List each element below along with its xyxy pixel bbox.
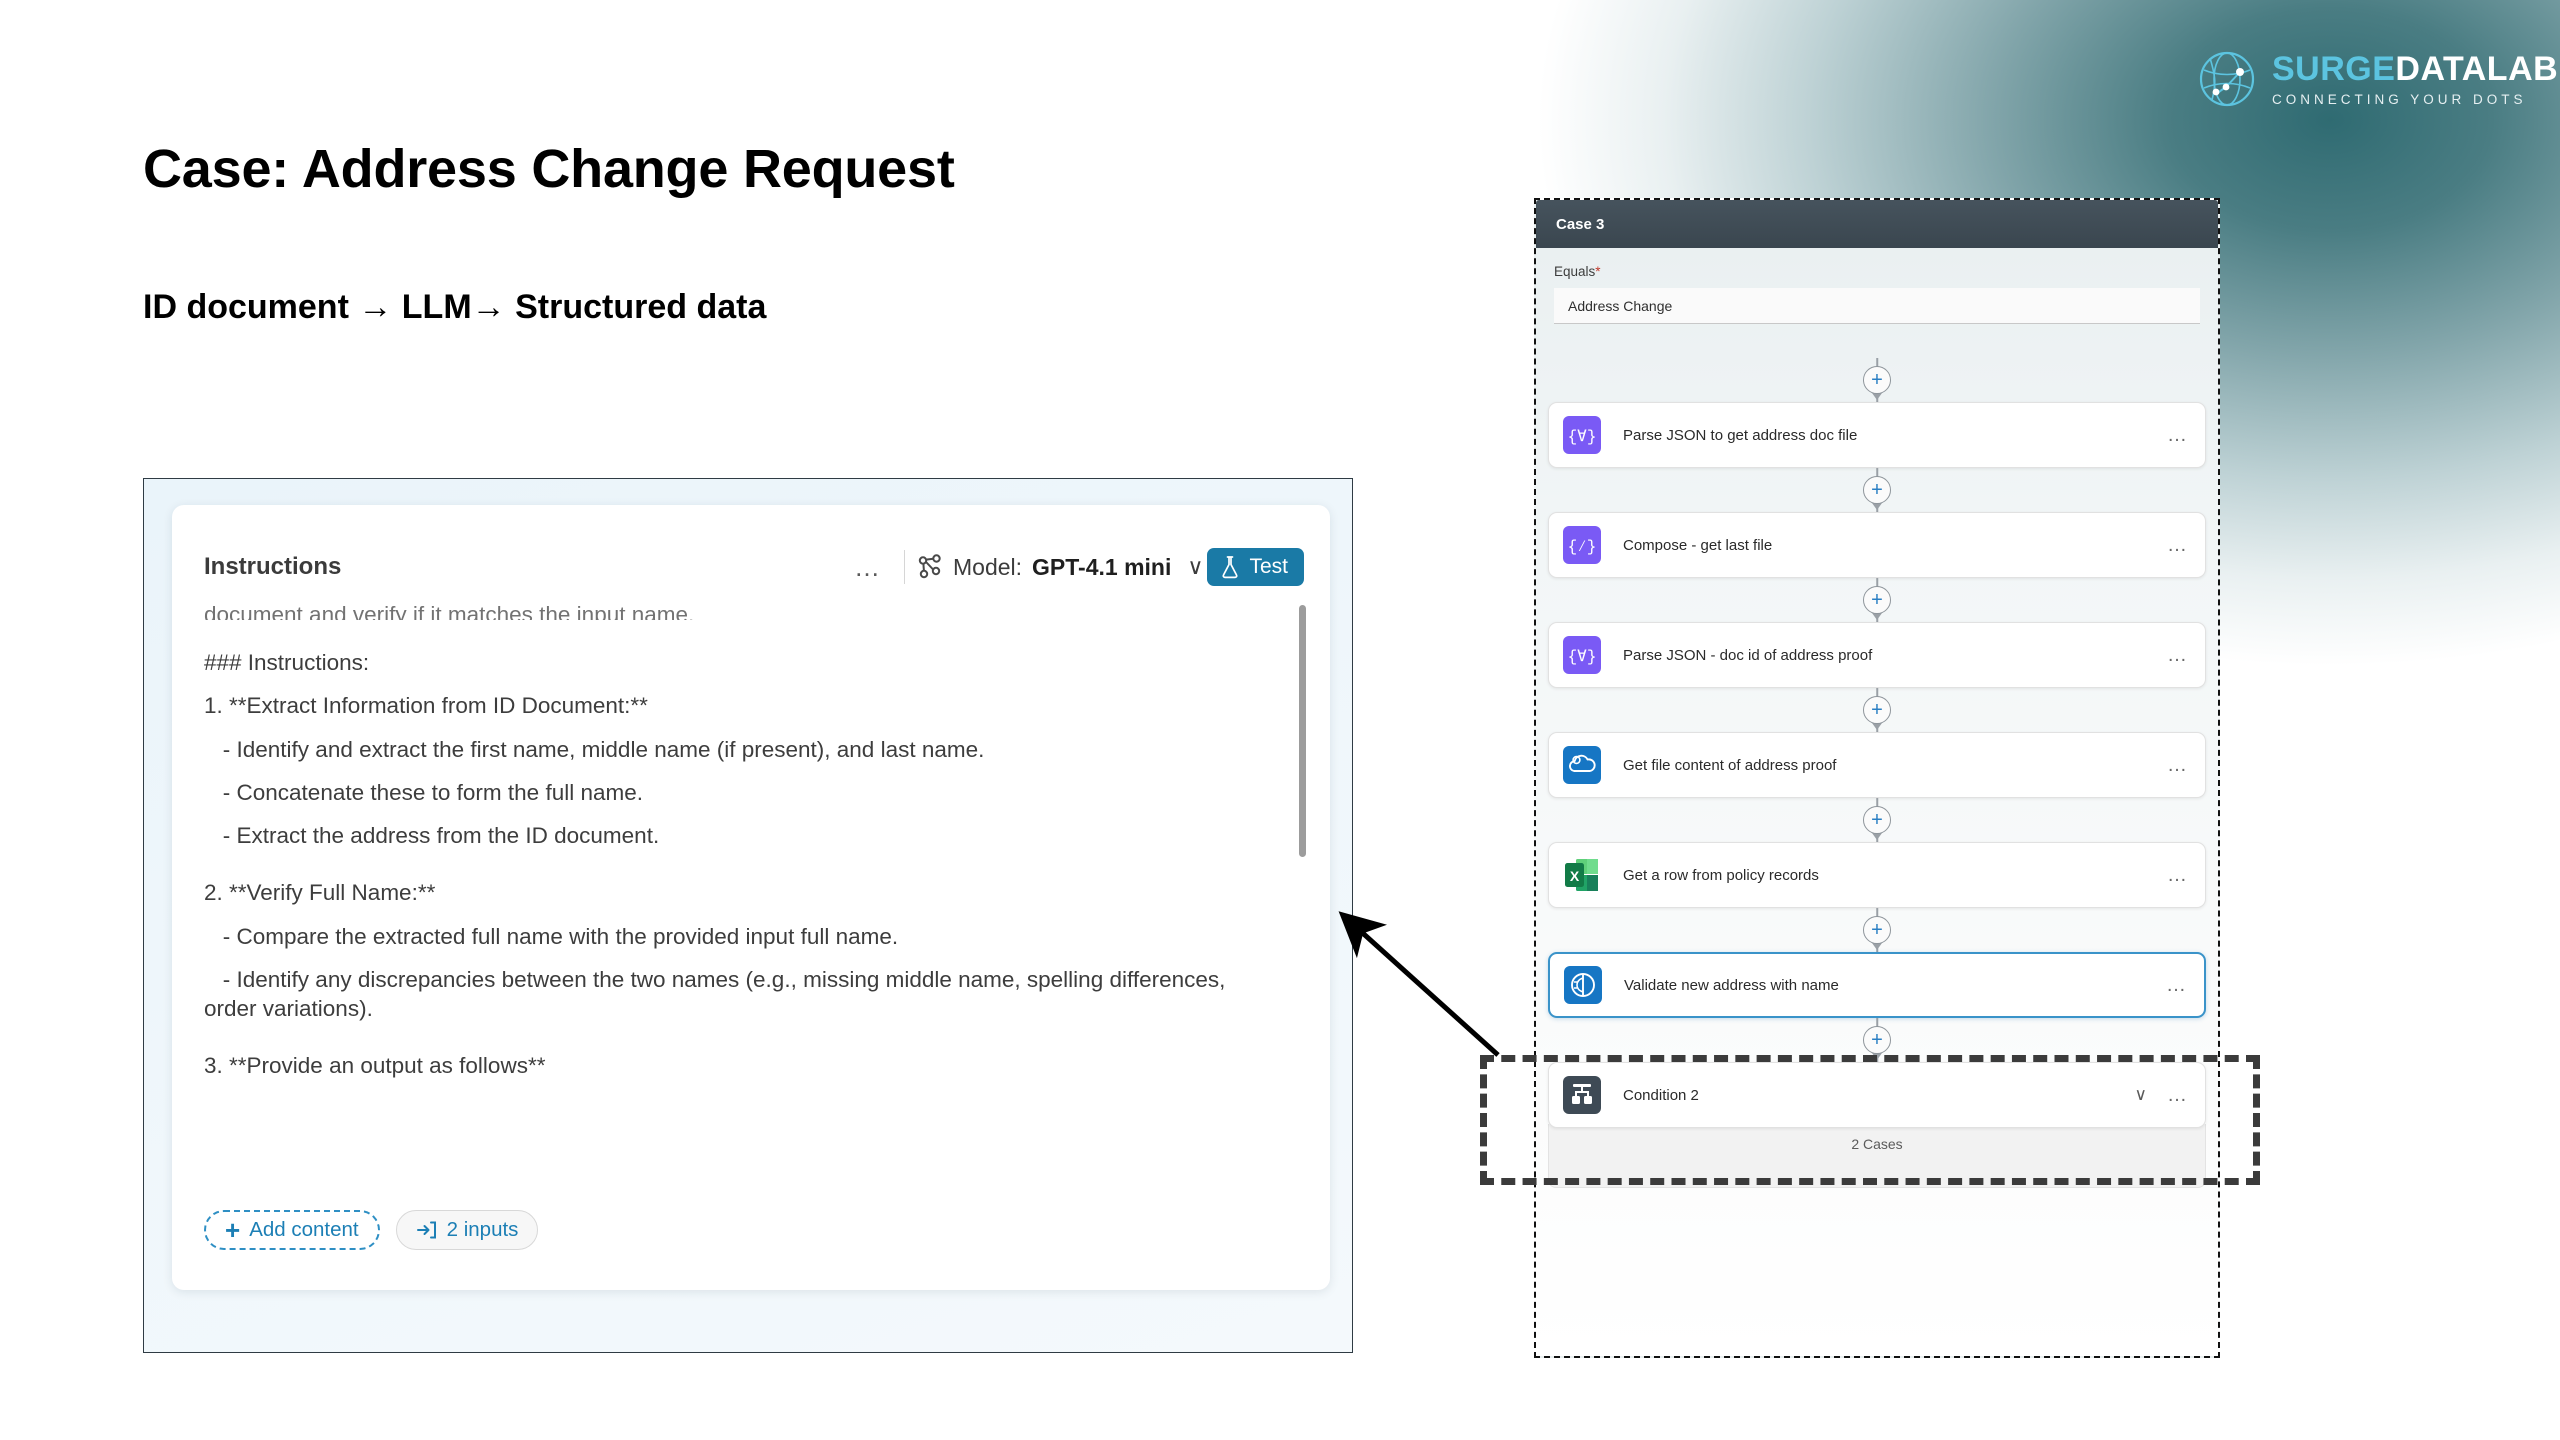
inputs-label: 2 inputs [447, 1218, 519, 1242]
flow-step-menu-icon[interactable]: … [2167, 1085, 2189, 1105]
connector-arrowhead [1872, 833, 1882, 840]
connector-arrowhead [1872, 613, 1882, 620]
model-value: GPT-4.1 mini [1032, 554, 1171, 581]
model-label: Model: [953, 554, 1022, 581]
plus-icon: + [225, 1217, 240, 1243]
flow-step-menu-icon[interactable]: … [2167, 755, 2189, 775]
flow-panel: Case 3 Equals* Address Change + {∀} Pars… [1534, 198, 2220, 1358]
flow-panel-header: Case 3 [1536, 200, 2218, 248]
connector-arrowhead [1872, 723, 1882, 730]
flow-steps-list: + {∀} Parse JSON to get address doc file… [1536, 358, 2218, 1356]
flow-step-label: Parse JSON - doc id of address proof [1623, 647, 2167, 664]
model-selector[interactable]: Model: GPT-4.1 mini ∨ [917, 554, 1207, 581]
flow-step-compose-get-last-file[interactable]: {∕} Compose - get last file … [1548, 512, 2206, 578]
cases-count-label: 2 Cases [1851, 1136, 1902, 1152]
flow-step-menu-icon[interactable]: … [2167, 865, 2189, 885]
equals-label: Equals* [1554, 264, 2200, 279]
flow-case-title: Case 3 [1556, 216, 1604, 233]
add-step-connector[interactable]: + [1536, 358, 2218, 402]
flow-step-label: Validate new address with name [1624, 977, 2166, 994]
overflow-menu-icon[interactable]: … [836, 554, 900, 580]
chevron-down-icon[interactable]: ∨ [1187, 554, 1203, 580]
add-step-button[interactable]: + [1863, 806, 1891, 834]
instructions-actions: + Add content 2 inputs [204, 1210, 538, 1250]
page-subtitle: ID document → LLM→ Structured data [143, 283, 1043, 331]
connector-arrowhead [1872, 503, 1882, 510]
equals-input[interactable]: Address Change [1554, 288, 2200, 324]
flow-step-label: Parse JSON to get address doc file [1623, 427, 2167, 444]
header-divider [904, 550, 905, 584]
add-step-button[interactable]: + [1863, 916, 1891, 944]
flow-step-parse-json-doc-id[interactable]: {∀} Parse JSON - doc id of address proof… [1548, 622, 2206, 688]
add-step-button[interactable]: + [1863, 1026, 1891, 1054]
flow-step-label: Condition 2 [1623, 1087, 2135, 1104]
condition-switch-icon [1563, 1076, 1601, 1114]
excel-icon: X [1563, 856, 1601, 894]
equals-field-group: Equals* Address Change [1536, 248, 2218, 338]
instructions-title: Instructions [204, 553, 836, 581]
flow-step-menu-icon[interactable]: … [2167, 535, 2189, 555]
instructions-line: ### Instructions: [204, 648, 1280, 677]
flow-step-validate-new-address[interactable]: Validate new address with name … [1548, 952, 2206, 1018]
flow-step-label: Get a row from policy records [1623, 867, 2167, 884]
test-button-label: Test [1249, 555, 1288, 579]
model-graph-icon [917, 554, 943, 580]
flow-step-parse-json-address-doc[interactable]: {∀} Parse JSON to get address doc file … [1548, 402, 2206, 468]
clipped-text-line: document and verify if it matches the in… [204, 603, 1280, 620]
svg-text:{∕}: {∕} [1568, 538, 1597, 556]
flow-step-get-row-policy-records[interactable]: X Get a row from policy records … [1548, 842, 2206, 908]
json-braces-icon: {∀} [1563, 636, 1601, 674]
instructions-line: 3. **Provide an output as follows** [204, 1051, 1280, 1080]
add-step-connector[interactable]: + [1536, 468, 2218, 512]
condition-cases-footer: 2 Cases [1548, 1124, 2206, 1188]
add-step-button[interactable]: + [1863, 366, 1891, 394]
compose-braces-icon: {∕} [1563, 526, 1601, 564]
instructions-card-header: Instructions … Model: GPT-4.1 min [172, 537, 1330, 597]
flow-step-label: Compose - get last file [1623, 537, 2167, 554]
required-asterisk: * [1595, 264, 1600, 279]
chevron-down-icon[interactable]: ∨ [2135, 1085, 2147, 1105]
flow-step-menu-icon[interactable]: … [2167, 645, 2189, 665]
instructions-panel-frame: Instructions … Model: GPT-4.1 min [143, 478, 1353, 1353]
logo-tagline: CONNECTING YOUR DOTS [2272, 93, 2558, 107]
flow-step-get-file-content[interactable]: Get file content of address proof … [1548, 732, 2206, 798]
test-button[interactable]: Test [1207, 548, 1304, 586]
flow-step-label: Get file content of address proof [1623, 757, 2167, 774]
equals-input-value: Address Change [1568, 298, 1672, 314]
add-step-connector[interactable]: + [1536, 1018, 2218, 1062]
instructions-scrollbar[interactable] [1299, 605, 1306, 857]
ai-brain-icon [1564, 966, 1602, 1004]
instructions-line: 2. **Verify Full Name:** [204, 878, 1280, 907]
instructions-line: - Compare the extracted full name with t… [204, 922, 1280, 951]
connector-arrowhead [1872, 393, 1882, 400]
callout-arrow [1330, 900, 1560, 1120]
onedrive-cloud-icon [1563, 746, 1601, 784]
json-braces-icon: {∀} [1563, 416, 1601, 454]
globe-network-icon [2196, 48, 2258, 110]
add-content-label: Add content [249, 1218, 358, 1242]
input-arrow-icon [416, 1219, 438, 1241]
connector-arrowhead [1872, 1053, 1882, 1060]
add-step-connector[interactable]: + [1536, 578, 2218, 622]
add-step-connector[interactable]: + [1536, 798, 2218, 842]
svg-text:X: X [1570, 868, 1580, 884]
logo-name-primary: SURGE [2272, 50, 2395, 88]
flask-icon [1219, 555, 1241, 579]
add-step-button[interactable]: + [1863, 476, 1891, 504]
svg-text:{∀}: {∀} [1568, 648, 1597, 666]
flow-step-menu-icon[interactable]: … [2167, 425, 2189, 445]
logo-name-secondary: DATALAB [2395, 50, 2558, 88]
instructions-line: - Identify any discrepancies between the… [204, 965, 1280, 1024]
instructions-line: 1. **Extract Information from ID Documen… [204, 691, 1280, 720]
flow-step-menu-icon[interactable]: … [2166, 975, 2188, 995]
add-content-button[interactable]: + Add content [204, 1210, 380, 1250]
flow-step-condition-2[interactable]: Condition 2 ∨ … [1548, 1062, 2206, 1128]
instructions-line: - Concatenate these to form the full nam… [204, 778, 1280, 807]
inputs-button[interactable]: 2 inputs [396, 1210, 539, 1250]
instructions-body[interactable]: document and verify if it matches the in… [204, 603, 1280, 1194]
instructions-line: - Extract the address from the ID docume… [204, 821, 1280, 850]
instructions-line: - Identify and extract the first name, m… [204, 735, 1280, 764]
equals-label-text: Equals [1554, 264, 1595, 279]
page-title: Case: Address Change Request [143, 138, 955, 200]
add-step-connector[interactable]: + [1536, 908, 2218, 952]
instructions-card: Instructions … Model: GPT-4.1 min [172, 505, 1330, 1290]
connector-arrowhead [1872, 943, 1882, 950]
add-step-button[interactable]: + [1863, 586, 1891, 614]
svg-text:{∀}: {∀} [1568, 428, 1597, 446]
add-step-connector[interactable]: + [1536, 688, 2218, 732]
brand-logo: SURGEDATALAB CONNECTING YOUR DOTS [2196, 48, 2558, 110]
add-step-button[interactable]: + [1863, 696, 1891, 724]
